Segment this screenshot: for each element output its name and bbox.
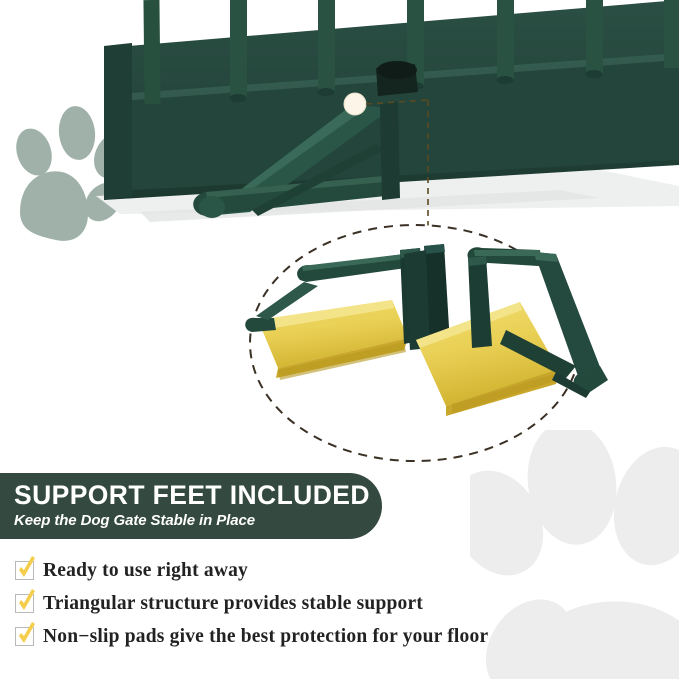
list-item-label: Non−slip pads give the best protection f…: [43, 626, 488, 648]
product-feature-graphic: SUPPORT FEET INCLUDED Keep the Dog Gate …: [0, 0, 679, 679]
banner-subtitle: Keep the Dog Gate Stable in Place: [14, 511, 382, 531]
list-item-label: Ready to use right away: [43, 560, 248, 582]
product-scene-illustration: [0, 0, 679, 470]
headline-banner: SUPPORT FEET INCLUDED Keep the Dog Gate …: [0, 473, 382, 539]
gate-hinge: [376, 61, 418, 96]
check-mark-icon: [15, 561, 34, 580]
banner-title: SUPPORT FEET INCLUDED: [14, 480, 382, 510]
support-foot-joint-highlight: [344, 93, 366, 115]
list-item-label: Triangular structure provides stable sup…: [43, 593, 423, 615]
product-scene: [0, 0, 679, 470]
check-mark-icon: [15, 627, 34, 646]
paw-print-gray-icon: [470, 430, 679, 679]
check-mark-icon: [15, 594, 34, 613]
